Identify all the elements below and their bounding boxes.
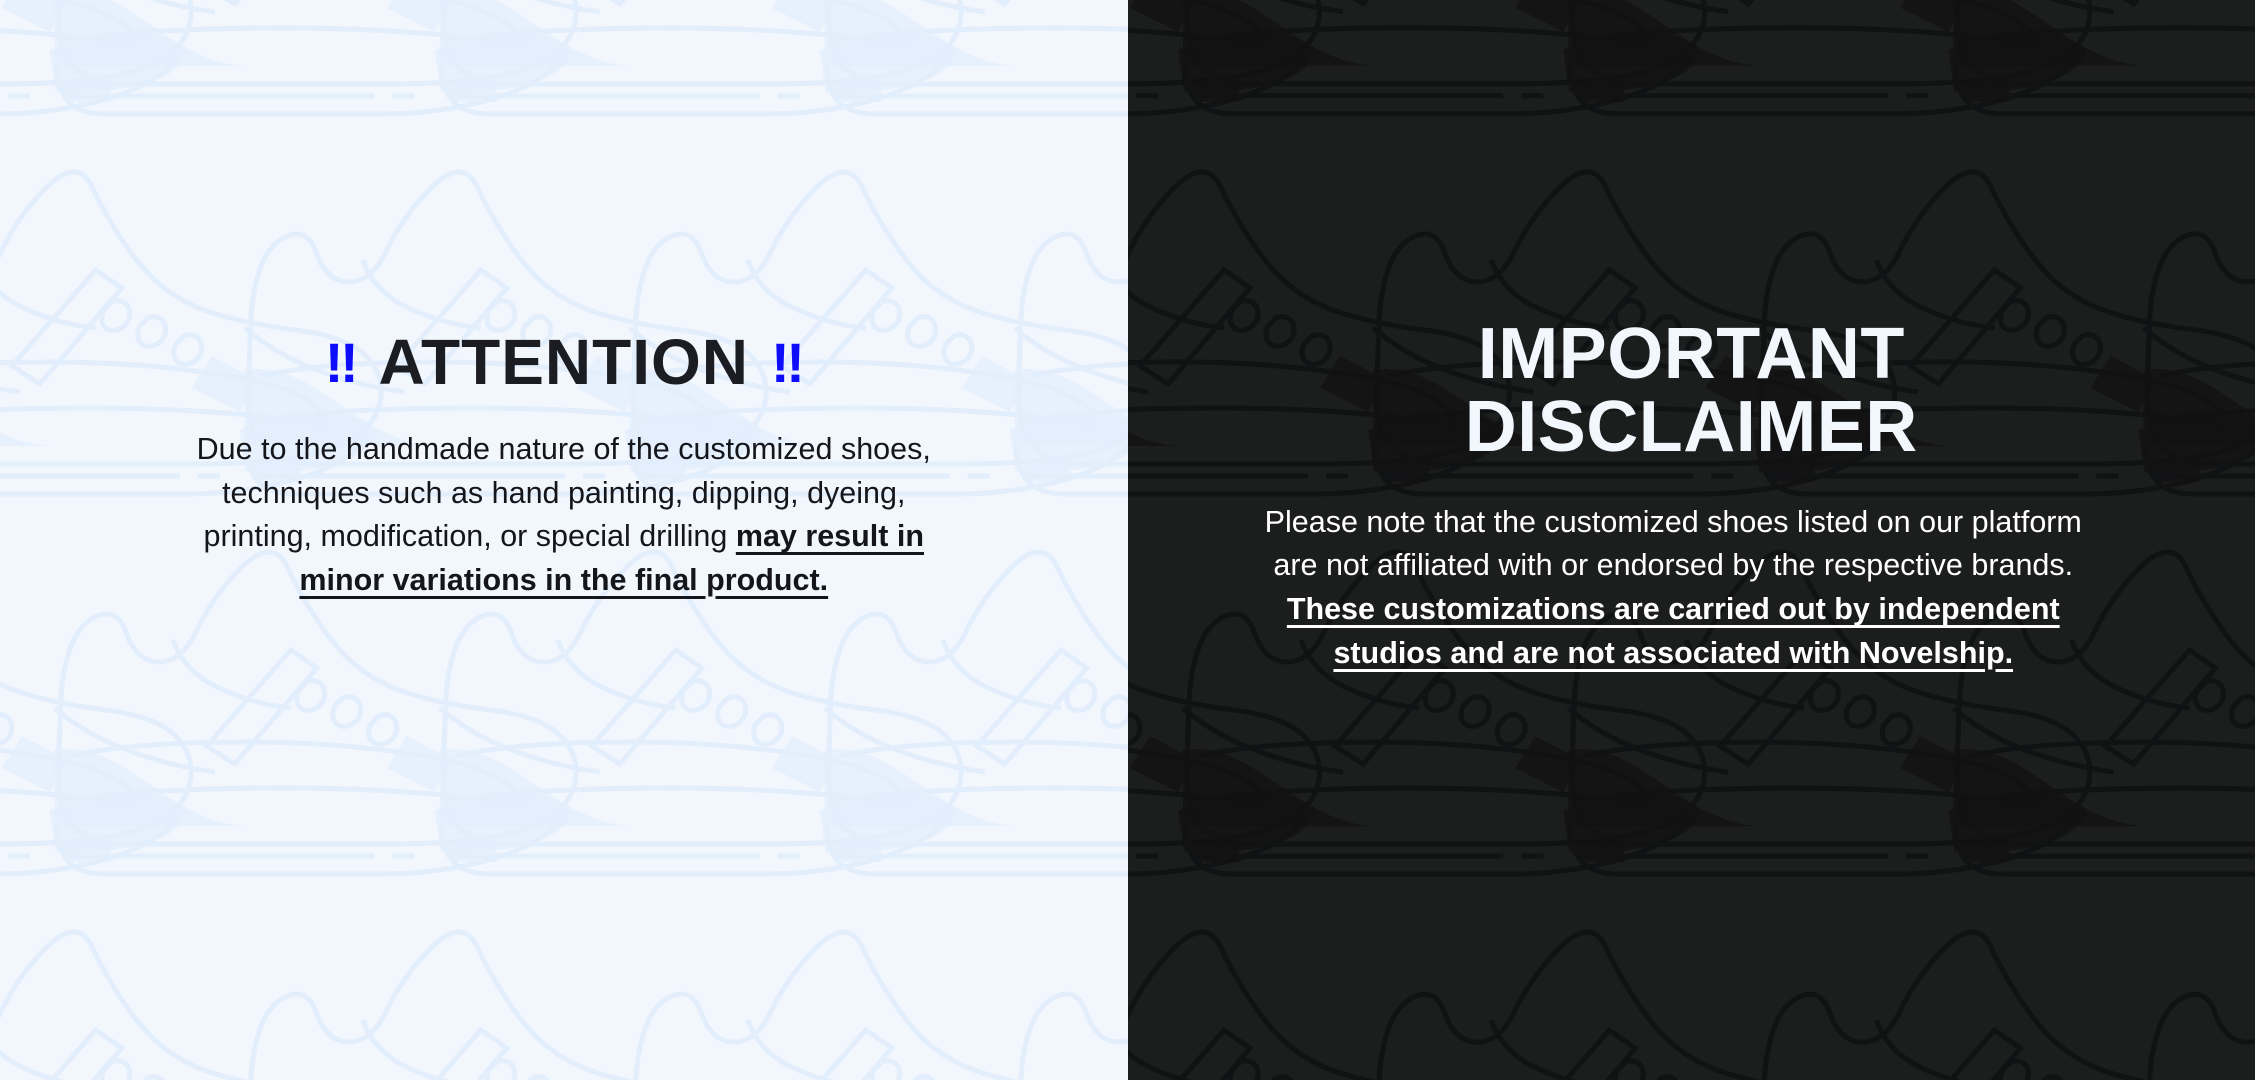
disclaimer-body: Please note that the customized shoes li…	[1263, 501, 2083, 675]
double-exclamation-icon-left: ‼	[325, 331, 357, 394]
attention-heading-word: ATTENTION	[357, 330, 771, 394]
disclaimer-heading-line1: IMPORTANT	[1478, 314, 1905, 394]
disclaimer-body-plain: Please note that the customized shoes li…	[1265, 505, 2082, 583]
disclaimer-panel: IMPORTANTDISCLAIMER Please note that the…	[1128, 0, 2255, 1080]
attention-content: ‼ATTENTION‼ Due to the handmade nature o…	[0, 330, 1128, 602]
disclaimer-heading: IMPORTANTDISCLAIMER	[1128, 318, 2255, 465]
disclaimer-heading-line2: DISCLAIMER	[1465, 387, 1918, 467]
promo-banner: ‼ATTENTION‼ Due to the handmade nature o…	[0, 0, 2255, 1080]
attention-heading: ‼ATTENTION‼	[0, 330, 1128, 394]
double-exclamation-icon-right: ‼	[771, 331, 803, 394]
attention-body: Due to the handmade nature of the custom…	[164, 428, 964, 602]
disclaimer-content: IMPORTANTDISCLAIMER Please note that the…	[1128, 318, 2255, 675]
attention-panel: ‼ATTENTION‼ Due to the handmade nature o…	[0, 0, 1128, 1080]
disclaimer-body-emphasis: These customizations are carried out by …	[1287, 592, 2060, 670]
